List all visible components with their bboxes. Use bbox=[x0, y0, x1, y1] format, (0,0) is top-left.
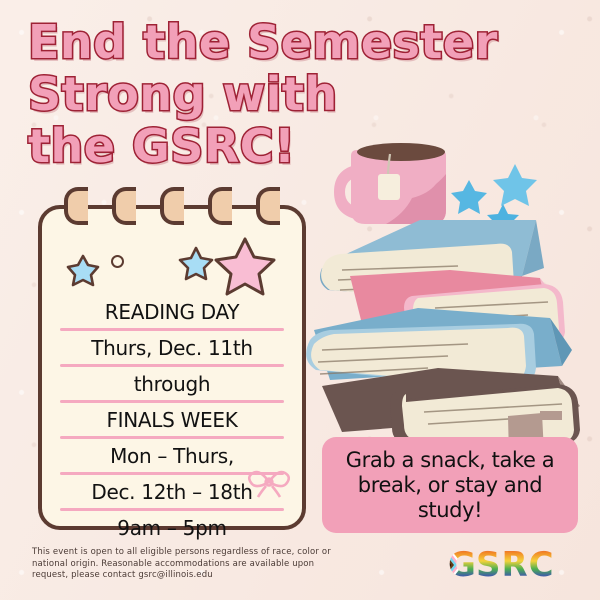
gsrc-logo-letters-src bbox=[472, 545, 577, 585]
notepad-line-text: through bbox=[60, 369, 284, 399]
notepad-rule bbox=[60, 508, 284, 511]
notepad-rule bbox=[60, 436, 284, 439]
poster-canvas: End the Semester Strong with the GSRC! bbox=[0, 0, 600, 600]
callout-box: Grab a snack, take a break, or stay and … bbox=[322, 437, 578, 533]
accessibility-disclaimer: This event is open to all eligible perso… bbox=[32, 547, 332, 582]
spiral-ring-1 bbox=[64, 187, 88, 225]
gsrc-logo: G SRC bbox=[447, 545, 577, 585]
notepad-rule bbox=[60, 364, 284, 367]
spiral-ring-3 bbox=[160, 187, 184, 225]
notepad-line: Thurs, Dec. 11th bbox=[60, 333, 284, 369]
star-pink-large-icon bbox=[214, 235, 276, 297]
notepad: READING DAY Thurs, Dec. 11th through FIN… bbox=[38, 205, 306, 530]
notepad-line: through bbox=[60, 369, 284, 405]
star-blue-small-icon bbox=[66, 253, 100, 287]
notepad-rule bbox=[60, 328, 284, 331]
callout-text: Grab a snack, take a break, or stay and … bbox=[322, 448, 578, 523]
bow-icon bbox=[246, 465, 292, 499]
circle-dot-icon bbox=[111, 255, 124, 268]
notepad-line-text: Thurs, Dec. 11th bbox=[60, 333, 284, 363]
notepad-rule bbox=[60, 400, 284, 403]
notepad-line-text: FINALS WEEK bbox=[60, 405, 284, 435]
notepad-line-text: READING DAY bbox=[60, 297, 284, 327]
notepad-line: READING DAY bbox=[60, 297, 284, 333]
spiral-ring-5 bbox=[256, 187, 280, 225]
notepad-line: 9am – 5pm bbox=[60, 513, 284, 549]
star-blue-medium-icon bbox=[178, 245, 214, 281]
tea-mug-icon bbox=[334, 143, 446, 224]
notepad-line-text: 9am – 5pm bbox=[60, 513, 284, 543]
headline-line-2: Strong with bbox=[28, 68, 573, 120]
headline-line-1: End the Semester bbox=[28, 16, 573, 68]
book-bottom bbox=[322, 368, 580, 448]
books-and-mug-illustration bbox=[300, 118, 600, 448]
spiral-ring-2 bbox=[112, 187, 136, 225]
spiral-ring-4 bbox=[208, 187, 232, 225]
notepad-line: FINALS WEEK bbox=[60, 405, 284, 441]
notepad-line-list: READING DAY Thurs, Dec. 11th through FIN… bbox=[60, 297, 284, 549]
